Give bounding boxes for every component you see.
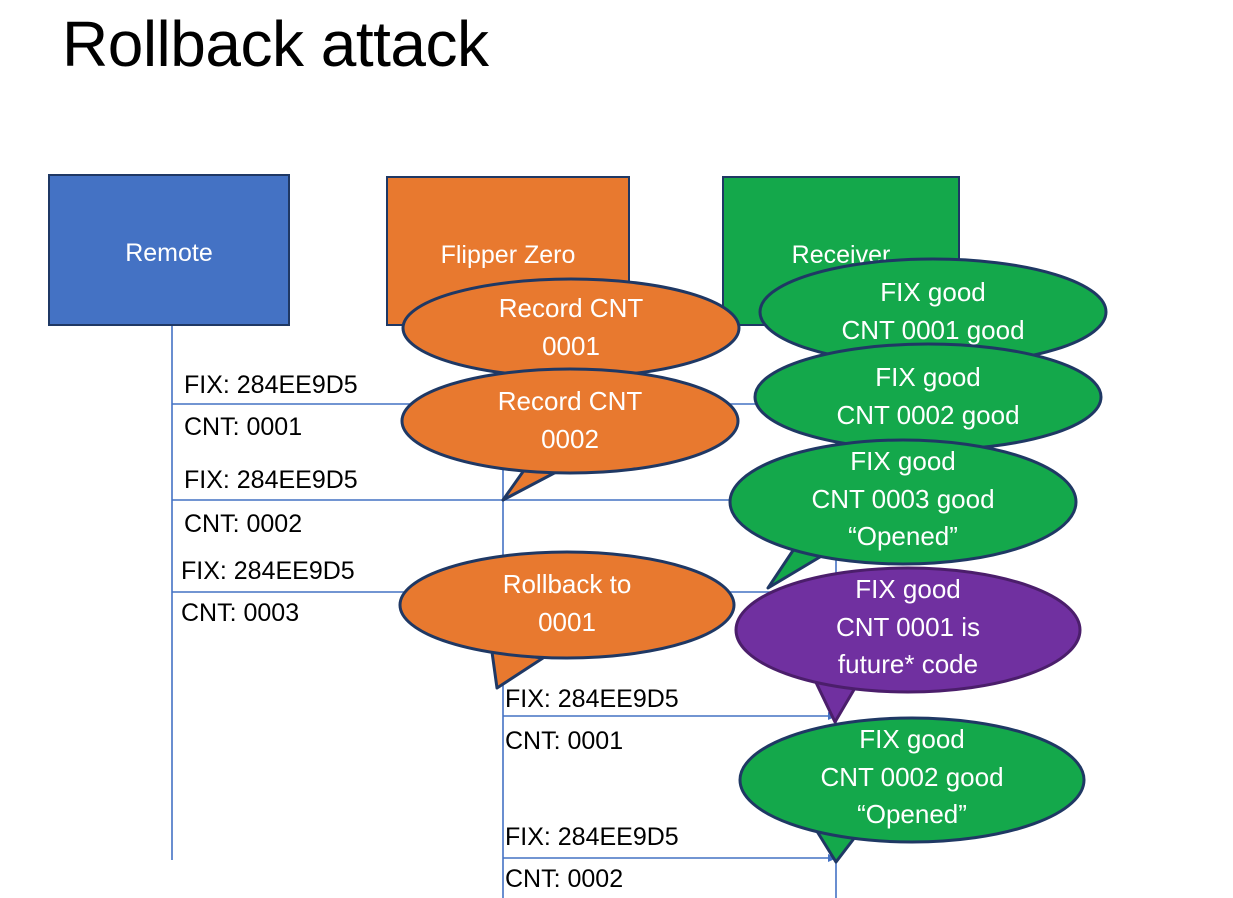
bubble-shape-b6[interactable] <box>730 440 1076 588</box>
slide-canvas: Rollback attack Remote Flipper Zero Rece… <box>0 0 1233 898</box>
message-label-m1-cnt: CNT: 0001 <box>184 413 302 442</box>
bubble-shape-b1[interactable] <box>403 279 739 377</box>
message-label-m3-fix: FIX: 284EE9D5 <box>181 557 355 586</box>
message-label-m4-fix: FIX: 284EE9D5 <box>505 685 679 714</box>
message-label-m1-fix: FIX: 284EE9D5 <box>184 371 358 400</box>
bubble-shape-b2[interactable] <box>402 369 738 500</box>
bubble-shape-layer <box>0 0 1233 898</box>
message-label-m5-fix: FIX: 284EE9D5 <box>505 823 679 852</box>
bubble-shape-b8[interactable] <box>740 718 1084 862</box>
message-label-m2-fix: FIX: 284EE9D5 <box>184 466 358 495</box>
bubble-shape-b7[interactable] <box>736 568 1080 722</box>
bubble-shape-b3[interactable] <box>400 552 734 688</box>
message-label-m2-cnt: CNT: 0002 <box>184 510 302 539</box>
bubble-shape-b5[interactable] <box>755 344 1101 450</box>
message-label-m5-cnt: CNT: 0002 <box>505 865 623 894</box>
message-label-m4-cnt: CNT: 0001 <box>505 727 623 756</box>
message-label-m3-cnt: CNT: 0003 <box>181 599 299 628</box>
